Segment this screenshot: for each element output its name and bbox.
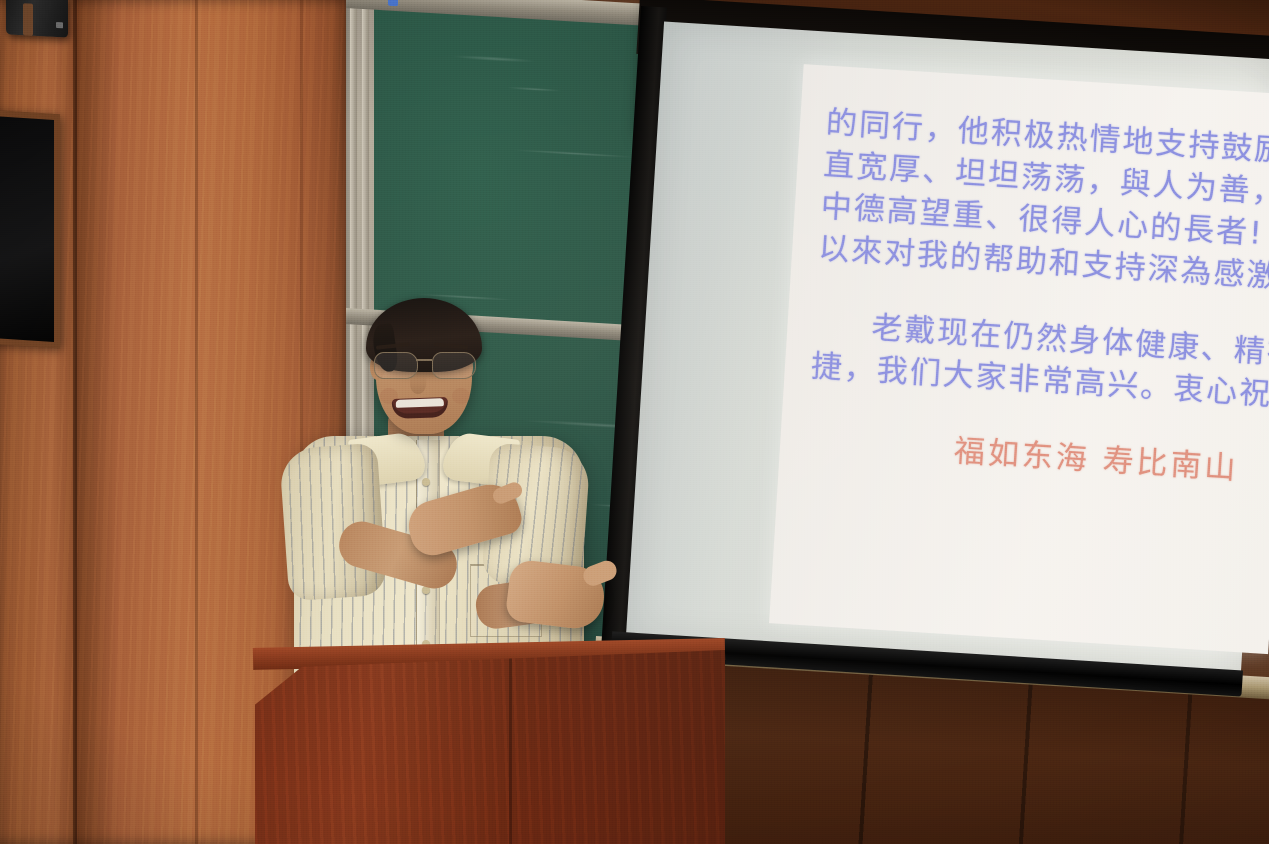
sleeve-stripes	[279, 443, 387, 601]
teeth	[396, 398, 444, 408]
lecture-hall-photo: 的同行，他积极热情地支持鼓励。他为人正 直宽厚、坦坦荡荡，與人为善，是我们队伍 …	[0, 0, 1269, 844]
projection-screen: 的同行，他积极热情地支持鼓励。他为人正 直宽厚、坦坦荡荡，與人为善，是我们队伍 …	[599, 6, 1269, 724]
screen-surface: 的同行，他积极热情地支持鼓励。他为人正 直宽厚、坦坦荡荡，與人为善，是我们队伍 …	[626, 21, 1269, 678]
cheek-right	[452, 388, 470, 404]
speaker-at-podium	[280, 296, 610, 696]
projected-slide: 的同行，他积极热情地支持鼓励。他为人正 直宽厚、坦坦荡荡，與人为善，是我们队伍 …	[769, 64, 1269, 654]
podium	[255, 650, 725, 844]
speaker-notch	[23, 3, 33, 36]
blue-tack-mark	[388, 0, 398, 6]
shirt-sleeve-left	[279, 443, 387, 601]
glasses-bridge	[416, 359, 432, 361]
speaker-badge	[56, 22, 63, 28]
wall-panel	[0, 110, 60, 349]
wall-panel-glass	[0, 116, 54, 342]
podium-panel-seam	[509, 650, 512, 844]
slide-text-block: 的同行，他积极热情地支持鼓励。他为人正 直宽厚、坦坦荡荡，與人为善，是我们队伍 …	[769, 64, 1269, 654]
podium-grain	[255, 650, 725, 844]
glasses-lens-right	[432, 352, 476, 379]
hand-right	[505, 558, 608, 631]
shirt-button	[422, 478, 430, 486]
nose	[410, 374, 426, 394]
wall-speaker-icon	[6, 0, 68, 38]
